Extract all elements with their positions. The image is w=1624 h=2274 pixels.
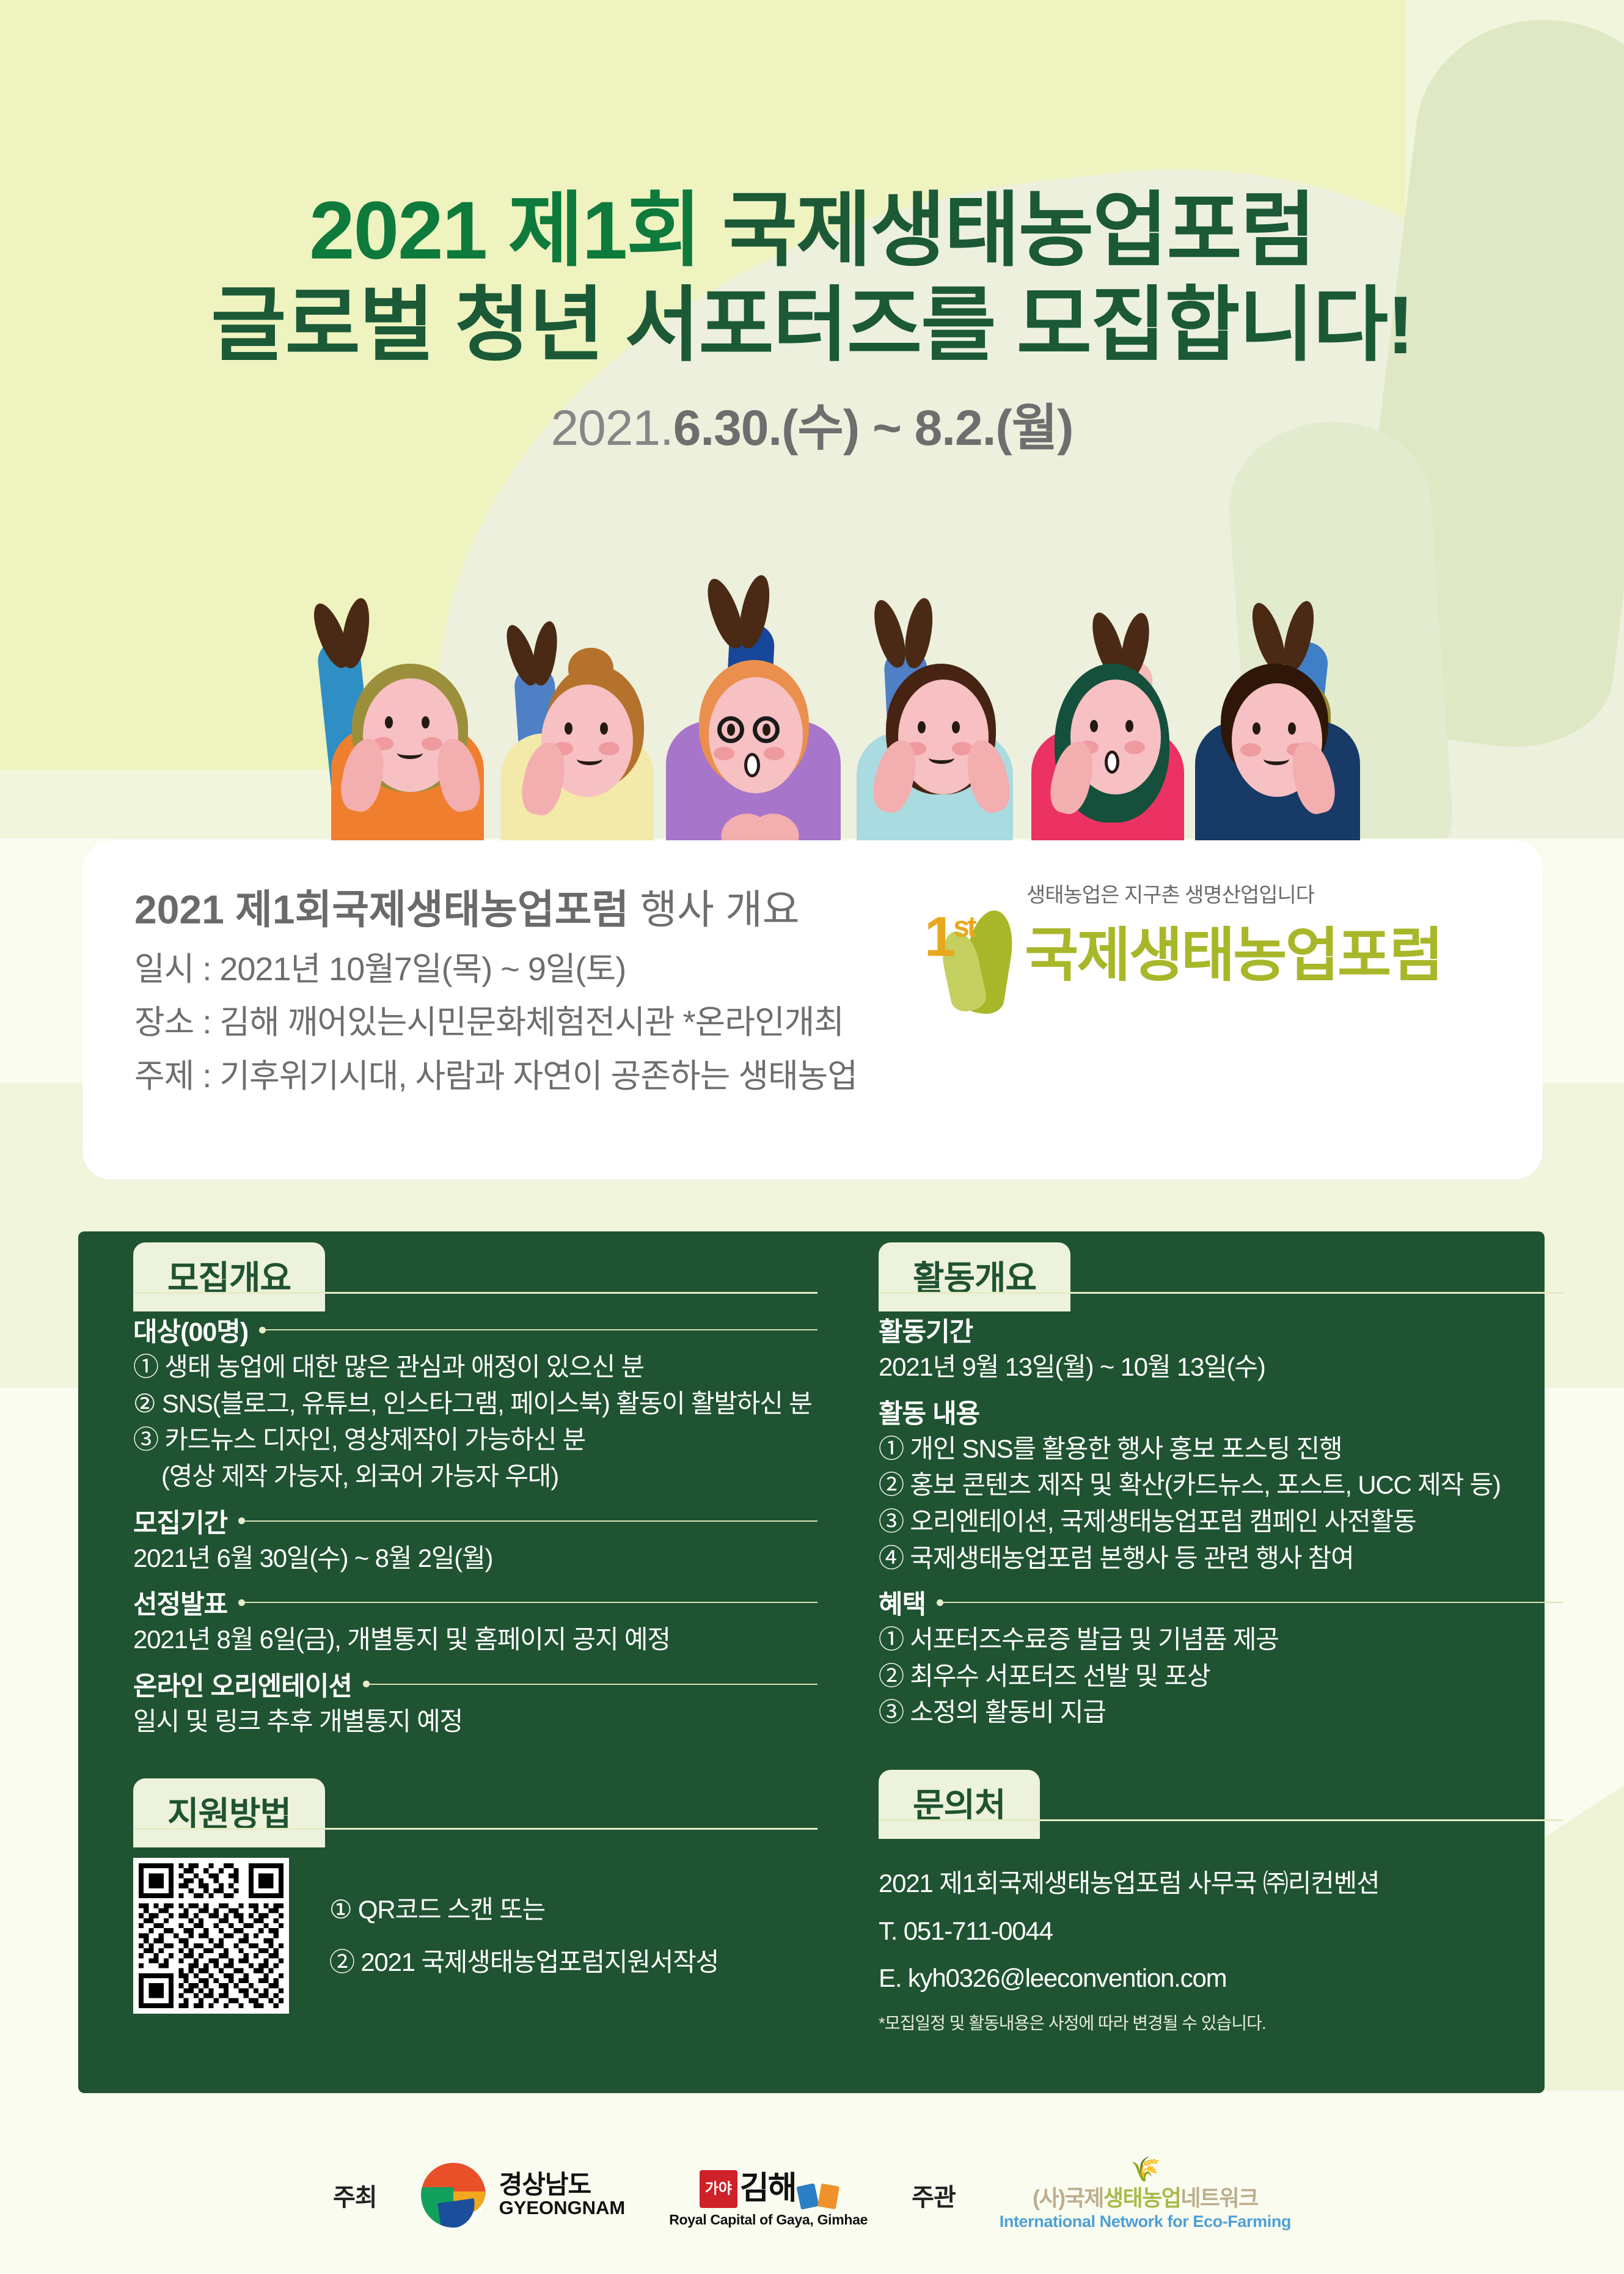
- apply-item-2: ② 2021 국제생태농업포럼지원서작성: [329, 1944, 719, 1981]
- label-rule: [943, 1602, 1563, 1603]
- recruit-target-item-3: ③ 카드뉴스 디자인, 영상제작이 가능하신 분: [133, 1421, 817, 1458]
- person-2: [483, 587, 666, 874]
- person-5-cheek-right: [1124, 741, 1145, 754]
- activity-period-label-row: 활동기간: [879, 1311, 1563, 1349]
- footer-organizer-label: 주관: [912, 2177, 956, 2213]
- wheat-icon: 🌾: [1130, 2158, 1160, 2180]
- label-rule: [245, 1602, 817, 1603]
- forum-logo-tagline: 생태농업은 지구촌 생명산업입니다: [852, 878, 1463, 908]
- recruit-rule: [133, 1292, 817, 1294]
- contact-rule: [879, 1819, 1563, 1821]
- gyeongnam-name-en: GYEONGNAM: [499, 2198, 626, 2218]
- inef-name-ko-strong: 생태농업: [1103, 2185, 1180, 2210]
- person-6-cheek-left: [1240, 743, 1261, 757]
- poster-root: 2021 제1회 국제생태농업포럼 글로벌 청년 서포터즈를 모집합니다! 20…: [0, 0, 1624, 2274]
- details-panel: 모집개요 대상(00명) ① 생태 농업에 대한 많은 관심과 애정이 있으신 …: [78, 1231, 1545, 2093]
- gimhae-logo-top: 가야 김해: [700, 2162, 838, 2208]
- recruit-target-label-row: 대상(00명): [133, 1311, 817, 1349]
- activity-content-item-1: ① 개인 SNS를 활용한 행사 홍보 포스팅 진행: [879, 1431, 1563, 1467]
- date-range: 6.30.(수) ~ 8.2.(월): [673, 400, 1074, 456]
- recruit-announce-value: 2021년 8월 6일(금), 개별통지 및 홈페이지 공지 예정: [133, 1621, 817, 1658]
- person-5-eye-right: [1125, 720, 1133, 732]
- activity-content-label-row: 활동 내용: [879, 1393, 1563, 1431]
- gimhae-stamp-text-1: 가야: [705, 2182, 732, 2196]
- person-1-smile: [397, 747, 423, 759]
- person-2-hair-bun: [568, 648, 613, 688]
- gimhae-flag-blue-icon: [796, 2183, 819, 2209]
- headline-date: 2021.6.30.(수) ~ 8.2.(월): [0, 387, 1624, 460]
- apply-section-header: 지원방법: [133, 1767, 817, 1839]
- person-3-open-mouth: [744, 753, 760, 777]
- recruit-target-item-1: ① 생태 농업에 대한 많은 관심과 애정이 있으신 분: [133, 1349, 817, 1385]
- benefit-item-3: ③ 소정의 활동비 지급: [879, 1694, 1563, 1731]
- bullet-dot-icon: [238, 1517, 245, 1524]
- qr-code[interactable]: [133, 1858, 289, 2014]
- person-5-eye-left: [1090, 720, 1098, 732]
- person-4-eye-right: [952, 721, 960, 733]
- event-summary-title: 2021 제1회국제생태농업포럼 행사 개요: [134, 877, 800, 936]
- forum-logo-ordinal-number: 1: [924, 906, 953, 968]
- person-3-eye-left: [727, 724, 735, 736]
- event-summary-title-light: 행사 개요: [629, 887, 800, 932]
- headline-line-2: 글로벌 청년 서포터즈를 모집합니다!: [0, 278, 1624, 373]
- gyeongnam-wordmark: 경상남도 GYEONGNAM: [499, 2171, 626, 2218]
- recruit-target-item-2: ② SNS(블로그, 유튜브, 인스타그램, 페이스북) 활동이 활발하신 분: [133, 1385, 817, 1422]
- inef-name-ko: (사)국제생태농업네트워크: [1033, 2180, 1258, 2212]
- recruit-announce-label-row: 선정발표: [133, 1583, 817, 1621]
- recruit-tab: 모집개요: [133, 1242, 325, 1311]
- activity-column: 활동개요 활동기간 2021년 9월 13일(월) ~ 10월 13일(수) 활…: [879, 1231, 1563, 2034]
- forum-logo-name: 국제생태농업포럼: [1025, 908, 1442, 992]
- contact-details: 2021 제1회국제생태농업포럼 사무국 ㈜리컨벤션 T. 051-711-00…: [879, 1865, 1563, 2034]
- event-summary-line-theme: 주제 : 기후위기시대, 사람과 자연이 공존하는 생태농업: [134, 1050, 857, 1103]
- person-1-bunny-hand-icon-2: [337, 596, 374, 670]
- recruit-announce-label: 선정발표: [133, 1583, 227, 1621]
- contact-disclaimer: *모집일정 및 활동내용은 사정에 따라 변경될 수 있습니다.: [879, 2010, 1563, 2034]
- apply-tab: 지원방법: [133, 1778, 325, 1847]
- headline-block: 2021 제1회 국제생태농업포럼 글로벌 청년 서포터즈를 모집합니다! 20…: [0, 183, 1624, 460]
- contact-phone[interactable]: T. 051-711-0044: [879, 1913, 1563, 1949]
- person-1-cheek-right: [422, 737, 442, 750]
- person-1-eye-right: [422, 716, 430, 728]
- contact-section-header: 문의처: [879, 1759, 1563, 1831]
- gyeongnam-name-ko: 경상남도: [499, 2171, 626, 2198]
- activity-content-item-2: ② 홍보 콘텐츠 제작 및 확산(카드뉴스, 포스트, UCC 제작 등): [879, 1467, 1563, 1503]
- headline-prefix: 2021 제1회: [309, 185, 722, 276]
- gyeongnam-logo: 경상남도 GYEONGNAM: [421, 2163, 626, 2228]
- person-3-cheek-left: [714, 747, 734, 760]
- person-2-eye-right: [600, 722, 608, 735]
- benefit-item-1: ① 서포터즈수료증 발급 및 기념품 제공: [879, 1621, 1563, 1658]
- person-4-smile: [929, 752, 954, 764]
- gimhae-subtitle: Royal Capital of Gaya, Gimhae: [669, 2212, 868, 2228]
- bullet-dot-icon: [238, 1599, 245, 1606]
- activity-tab: 활동개요: [879, 1242, 1070, 1311]
- gimhae-flag-orange-icon: [817, 2183, 839, 2209]
- label-rule: [245, 1520, 817, 1522]
- recruit-orientation-value: 일시 및 링크 추후 개별통지 예정: [133, 1703, 817, 1740]
- inef-name-ko-prefix: (사)국제: [1033, 2185, 1103, 2210]
- recruit-target-subnote: (영상 제작 가능자, 외국어 가능자 우대): [133, 1458, 817, 1495]
- gimhae-stamp-icon: 가야: [700, 2170, 737, 2208]
- person-2-eye-left: [565, 722, 572, 735]
- contact-email[interactable]: E. kyh0326@leeconvention.com: [879, 1960, 1563, 1997]
- person-1-eye-left: [385, 716, 393, 728]
- person-6-eye-right: [1288, 722, 1296, 735]
- bullet-dot-icon: [259, 1327, 266, 1333]
- contact-tab: 문의처: [879, 1770, 1040, 1839]
- person-3-eye-right: [763, 724, 770, 736]
- benefit-label-row: 혜택: [879, 1583, 1563, 1621]
- people-illustration: [299, 568, 1375, 874]
- recruit-orientation-label-row: 온라인 오리엔테이션: [133, 1665, 817, 1703]
- forum-logo: 생태농업은 지구촌 생명산업입니다 1st 국제생태농업포럼: [852, 878, 1463, 1019]
- person-1: [312, 587, 495, 874]
- person-5: [1020, 587, 1204, 874]
- gyeongnam-blue-shape: [437, 2198, 478, 2228]
- forum-logo-ordinal: 1st: [924, 905, 975, 969]
- headline-forum-name: 국제생태농업포럼: [722, 185, 1315, 276]
- activity-period-label: 활동기간: [879, 1311, 973, 1349]
- qr-code-icon: [139, 1863, 283, 2008]
- person-2-smile: [577, 753, 602, 765]
- person-3: [654, 587, 855, 874]
- bullet-dot-icon: [937, 1599, 943, 1606]
- event-summary-line-venue: 장소 : 김해 깨어있는시민문화체험전시관 *온라인개최: [134, 996, 857, 1049]
- person-4: [843, 587, 1026, 874]
- activity-period-value: 2021년 9월 13일(월) ~ 10월 13일(수): [879, 1349, 1563, 1385]
- benefit-label: 혜택: [879, 1583, 926, 1621]
- event-summary-title-strong: 2021 제1회국제생태농업포럼: [134, 887, 629, 932]
- apply-rule: [133, 1828, 817, 1830]
- inef-logo: 🌾 (사)국제생태농업네트워크 International Network fo…: [1000, 2158, 1291, 2231]
- activity-rule: [879, 1292, 1563, 1294]
- person-4-eye-left: [918, 721, 926, 733]
- event-summary-card: 2021 제1회국제생태농업포럼 행사 개요 일시 : 2021년 10월7일(…: [82, 840, 1543, 1179]
- event-summary-lines: 일시 : 2021년 10월7일(목) ~ 9일(토) 장소 : 김해 깨어있는…: [134, 943, 857, 1103]
- activity-section-header: 활동개요: [879, 1231, 1563, 1304]
- gimhae-logo: 가야 김해 Royal Capital of Gaya, Gimhae: [669, 2162, 868, 2228]
- person-6-eye-left: [1253, 722, 1260, 735]
- benefit-item-2: ② 최우수 서포터즈 선발 및 포상: [879, 1658, 1563, 1695]
- recruit-period-value: 2021년 6월 30일(수) ~ 8월 2일(월): [133, 1540, 817, 1577]
- apply-row: ① QR코드 스캔 또는 ② 2021 국제생태농업포럼지원서작성: [133, 1858, 817, 2014]
- gimhae-name: 김해: [740, 2162, 796, 2208]
- activity-content-item-4: ④ 국제생태농업포럼 본행사 등 관련 행사 참여: [879, 1540, 1563, 1577]
- footer-logos: 주최 경상남도 GYEONGNAM 가야 김해 Royal: [0, 2158, 1624, 2231]
- recruit-orientation-label: 온라인 오리엔테이션: [133, 1665, 352, 1703]
- person-3-cheek-right: [764, 747, 785, 760]
- apply-item-1: ① QR코드 스캔 또는: [329, 1891, 719, 1928]
- event-summary-line-date: 일시 : 2021년 10월7일(목) ~ 9일(토): [134, 943, 857, 996]
- footer-host-label: 주최: [333, 2177, 377, 2213]
- person-6-smile: [1264, 753, 1289, 765]
- bullet-dot-icon: [363, 1681, 370, 1687]
- person-6: [1185, 587, 1381, 874]
- recruit-section-header: 모집개요: [133, 1231, 817, 1304]
- date-prefix: 2021.: [551, 400, 673, 456]
- label-rule: [266, 1329, 817, 1330]
- activity-content-label: 활동 내용: [879, 1393, 979, 1431]
- person-5-open-mouth: [1105, 750, 1119, 774]
- inef-name-en: International Network for Eco-Farming: [1000, 2212, 1291, 2231]
- person-2-bunny-hand-icon-2: [529, 620, 561, 687]
- apply-instructions: ① QR코드 스캔 또는 ② 2021 국제생태농업포럼지원서작성: [329, 1876, 719, 1996]
- headline-line-1: 2021 제1회 국제생태농업포럼: [0, 183, 1624, 278]
- recruit-target-label: 대상(00명): [133, 1311, 248, 1349]
- person-4-bunny-hand-icon-2: [901, 596, 937, 670]
- person-4-bunny-hand-icon: [868, 597, 911, 671]
- inef-name-ko-suffix: 네트워크: [1180, 2185, 1257, 2210]
- recruit-period-label: 모집기간: [133, 1502, 227, 1540]
- label-rule: [370, 1684, 817, 1685]
- recruit-period-label-row: 모집기간: [133, 1502, 817, 1540]
- gyeongnam-mark-icon: [421, 2163, 486, 2228]
- contact-organization: 2021 제1회국제생태농업포럼 사무국 ㈜리컨벤션: [879, 1865, 1563, 1902]
- forum-logo-ordinal-suffix: st: [953, 911, 975, 943]
- recruit-column: 모집개요 대상(00명) ① 생태 농업에 대한 많은 관심과 애정이 있으신 …: [133, 1231, 817, 2014]
- activity-content-item-3: ③ 오리엔테이션, 국제생태농업포럼 캠페인 사전활동: [879, 1503, 1563, 1540]
